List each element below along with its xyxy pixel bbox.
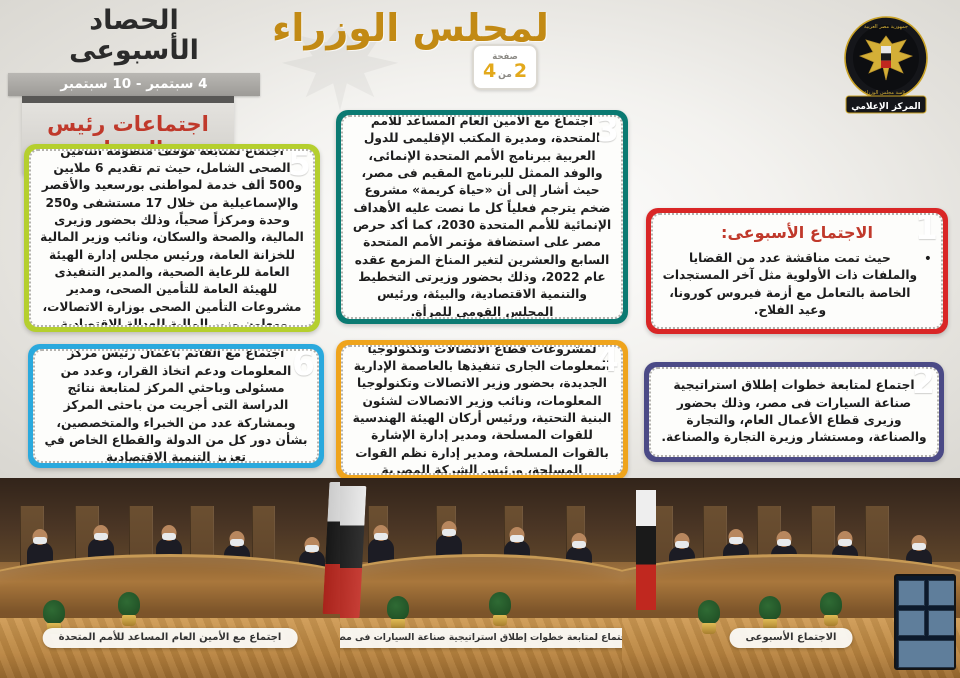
card-6[interactable]: 6 اجتماع مع القائم بأعمال رئيس مركز المع…	[28, 344, 324, 468]
card-1-number: 1	[915, 211, 938, 244]
photo-car-industry-meeting: اجتماع لمتابعة خطوات إطلاق استراتيجية صن…	[340, 478, 622, 678]
header-title-line2: الأسبوعى	[8, 36, 260, 66]
page-badge-current: 2	[514, 62, 527, 81]
potted-plant	[116, 592, 142, 626]
egypt-flag-icon	[636, 490, 656, 610]
card-1[interactable]: 1 الاجتماع الأسبوعى: • حيث تمت مناقشة عد…	[646, 208, 948, 334]
potted-plant	[818, 592, 844, 626]
potted-plant	[385, 596, 411, 630]
card-2-inner: اجتماع لمتابعة خطوات إطلاق استراتيجية صن…	[649, 367, 939, 457]
meeting-room-illustration	[622, 478, 960, 678]
card-6-body: اجتماع مع القائم بأعمال رئيس مركز المعلو…	[44, 349, 308, 463]
card-1-heading: الاجتماع الأسبوعى:	[662, 223, 932, 242]
photo-un-meeting: اجتماع مع الأمين العام المساعد للأمم الم…	[0, 478, 340, 678]
page-badge-of: من	[498, 71, 512, 80]
page-badge-total: 4	[483, 62, 496, 81]
meeting-room-illustration	[340, 478, 622, 678]
card-2-number: 2	[912, 365, 935, 398]
photo-caption-2: اجتماع لمتابعة خطوات إطلاق استراتيجية صن…	[340, 628, 622, 648]
card-5-inner: اجتماع لمتابعة موقف منظومة التأمين الصحى…	[29, 149, 315, 327]
svg-text:جمهورية مصر العربية: جمهورية مصر العربية	[864, 24, 908, 30]
video-conference-screen	[894, 574, 956, 670]
card-2-body: اجتماع لمتابعة خطوات إطلاق استراتيجية صن…	[660, 377, 928, 446]
card-4[interactable]: 4 اجتماع لمتابعة الموقف التنفيذى لمشروعا…	[336, 340, 628, 480]
card-3-body: اجتماع مع الأمين العام المساعد للأمم الم…	[352, 115, 612, 319]
potted-plant	[757, 596, 783, 630]
room-floor	[340, 618, 622, 678]
card-6-number: 6	[292, 347, 315, 380]
card-3[interactable]: 3 اجتماع مع الأمين العام المساعد للأمم ا…	[336, 110, 628, 324]
date-range-bar: 4 سبتمبر - 10 سبتمبر	[8, 73, 260, 96]
header-title-line1: الحصاد	[8, 6, 260, 36]
card-5-number: 5	[288, 147, 311, 180]
card-1-inner: الاجتماع الأسبوعى: • حيث تمت مناقشة عدد …	[651, 213, 943, 329]
card-3-number: 3	[596, 113, 619, 146]
card-3-inner: اجتماع مع الأمين العام المساعد للأمم الم…	[341, 115, 623, 319]
card-4-number: 4	[596, 343, 619, 376]
photo-caption-3: الاجتماع الأسبوعى	[730, 628, 853, 648]
meeting-room-illustration	[0, 478, 340, 678]
card-4-body: اجتماع لمتابعة الموقف التنفيذى لمشروعات …	[352, 345, 612, 475]
photo-weekly-meeting: الاجتماع الأسبوعى	[622, 478, 960, 678]
photo-caption-1: اجتماع مع الأمين العام المساعد للأمم الم…	[43, 628, 298, 648]
card-4-inner: اجتماع لمتابعة الموقف التنفيذى لمشروعات …	[341, 345, 623, 475]
egypt-cabinet-seal-logo: جمهورية مصر العربية رئاسة مجلس الوزراء ا…	[830, 8, 942, 120]
header-title-block: الحصاد الأسبوعى 4 سبتمبر - 10 سبتمبر	[8, 6, 260, 96]
page-indicator-badge: صفحة 2 من 4	[472, 44, 538, 90]
card-1-bullet-row: • حيث تمت مناقشة عدد من القضايا والملفات…	[662, 250, 932, 319]
card-1-body: حيث تمت مناقشة عدد من القضايا والملفات ذ…	[662, 250, 918, 319]
infographic-page: جمهورية مصر العربية رئاسة مجلس الوزراء ا…	[0, 0, 960, 678]
potted-plant	[487, 592, 513, 626]
photo-strip: الاجتماع الأسبوعى اجتماع لمتابعة خطوات	[0, 478, 960, 678]
bullet-icon: •	[924, 250, 932, 268]
card-2[interactable]: 2 اجتماع لمتابعة خطوات إطلاق استراتيجية …	[644, 362, 944, 462]
svg-text:رئاسة مجلس الوزراء: رئاسة مجلس الوزراء	[864, 90, 908, 96]
svg-text:المركز الإعلامي: المركز الإعلامي	[851, 102, 921, 112]
page-badge-numbers: 2 من 4	[483, 62, 527, 81]
card-5-body: اجتماع لمتابعة موقف منظومة التأمين الصحى…	[40, 149, 304, 327]
potted-plant	[696, 600, 722, 634]
card-6-inner: اجتماع مع القائم بأعمال رئيس مركز المعلو…	[33, 349, 319, 463]
card-5[interactable]: 5 اجتماع لمتابعة موقف منظومة التأمين الص…	[24, 144, 320, 332]
